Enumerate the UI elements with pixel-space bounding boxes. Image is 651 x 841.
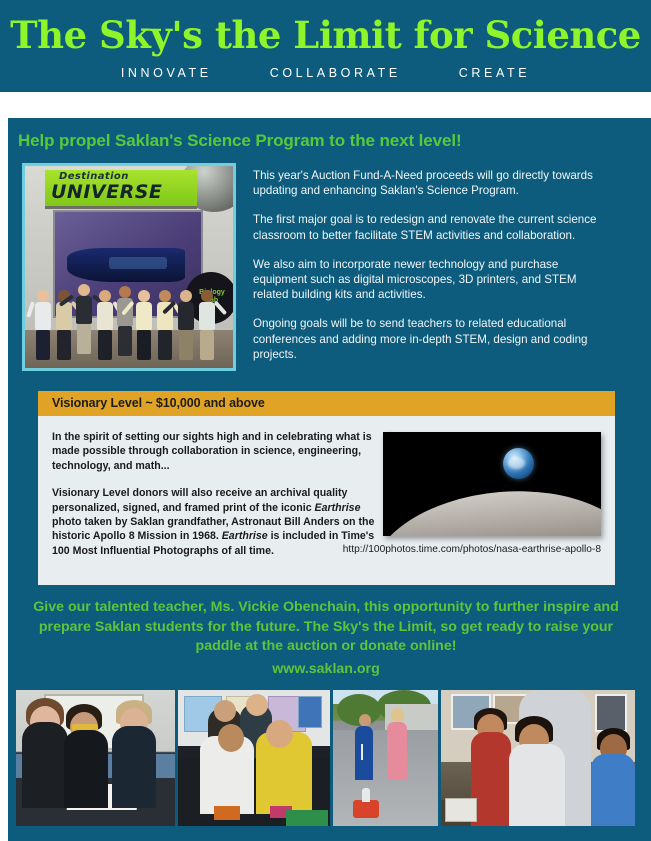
page-header: The Sky's the Limit for Science INNOVATE…: [0, 0, 651, 92]
gallery-photo-2: [178, 690, 330, 826]
cta-line-1: Give our talented teacher, Ms. Vickie Ob…: [33, 599, 539, 615]
visionary-level-card: Visionary Level ~ $10,000 and above In t…: [38, 391, 615, 585]
call-to-action: Give our talented teacher, Ms. Vickie Ob…: [33, 598, 619, 679]
photo-earthrise: [383, 432, 601, 536]
vis-p2-em1: Earthrise: [315, 502, 361, 514]
vis-p2-pre: Visionary Level donors will also receive…: [52, 487, 347, 513]
destination-universe-sign: Destination UNIVERSE: [45, 170, 197, 209]
earthrise-source-url[interactable]: http://100photos.time.com/photos/nasa-ea…: [38, 544, 601, 555]
visionary-level-header: Visionary Level ~ $10,000 and above: [38, 391, 615, 416]
photo-gallery: [16, 690, 635, 826]
tagline-create: CREATE: [459, 66, 530, 80]
paragraph-4: Ongoing goals will be to send teachers t…: [253, 316, 613, 362]
page-title: The Sky's the Limit for Science: [0, 13, 651, 57]
tagline-innovate: INNOVATE: [121, 66, 212, 80]
header-divider: [0, 92, 651, 118]
sign-line-2: UNIVERSE: [51, 181, 162, 203]
gallery-photo-4: [441, 690, 635, 826]
vis-p2-em2: Earthrise: [222, 530, 268, 542]
tagline-collaborate: COLLABORATE: [270, 66, 401, 80]
visionary-paragraph-1: In the spirit of setting our sights high…: [52, 430, 382, 473]
website-link[interactable]: www.saklan.org: [33, 660, 619, 680]
photo-destination-universe: Destination UNIVERSE Biology Lab: [22, 163, 236, 371]
flyer-page: The Sky's the Limit for Science INNOVATE…: [0, 0, 651, 841]
tagline-row: INNOVATE COLLABORATE CREATE: [0, 66, 651, 80]
paragraph-1: This year's Auction Fund-A-Need proceeds…: [253, 168, 613, 198]
earth-icon: [503, 448, 534, 479]
students-group: [27, 280, 231, 366]
moon-surface: [383, 480, 601, 536]
section-headline: Help propel Saklan's Science Program to …: [18, 131, 462, 151]
paragraph-2: The first major goal is to redesign and …: [253, 212, 613, 242]
visionary-level-body: In the spirit of setting our sights high…: [38, 416, 615, 585]
visionary-level-title: Visionary Level ~ $10,000 and above: [52, 396, 265, 410]
intro-paragraphs: This year's Auction Fund-A-Need proceeds…: [253, 168, 613, 362]
gallery-photo-1: [16, 690, 175, 826]
paragraph-3: We also aim to incorporate newer technol…: [253, 257, 613, 303]
gallery-photo-3: [333, 690, 437, 826]
visionary-description: In the spirit of setting our sights high…: [52, 430, 382, 558]
